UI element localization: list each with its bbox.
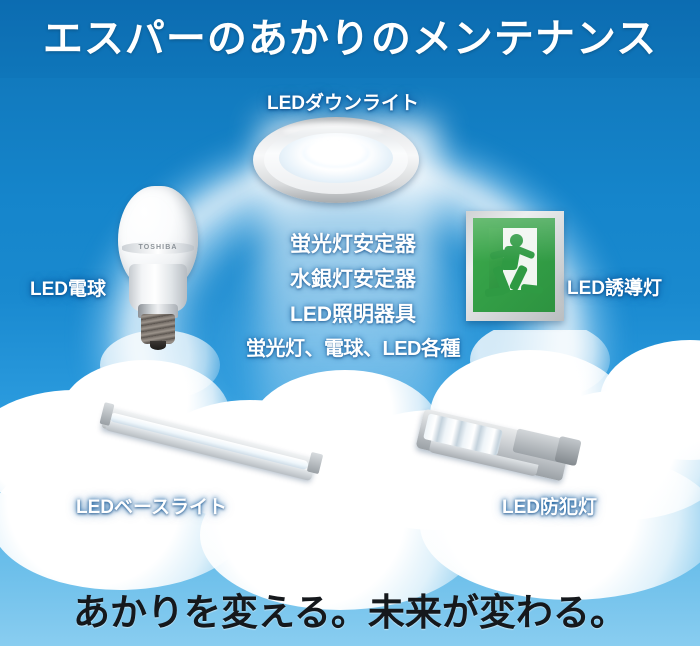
- baselight-tube: [109, 412, 309, 470]
- bulb-brand-text: TOSHIBA: [118, 244, 198, 251]
- bulb-screw-base: [141, 314, 175, 344]
- fluorescent-baselight-icon: [104, 398, 322, 464]
- label-led-baselight: LEDベースライト: [76, 492, 227, 519]
- tagline: あかりを変える。未来が変わる。: [0, 582, 700, 636]
- downlight-icon: [253, 117, 419, 203]
- security-light-mount: [554, 436, 581, 466]
- label-led-guide-light: LED誘導灯: [567, 273, 662, 300]
- emergency-exit-sign-icon: [466, 211, 564, 321]
- label-led-bulb: LED電球: [30, 274, 106, 301]
- label-led-security-light: LED防犯灯: [502, 492, 597, 519]
- light-bulb-icon: TOSHIBA: [118, 186, 198, 350]
- poster-canvas: エスパーのあかりのメンテナンス TOSHIBA: [0, 0, 700, 646]
- service-list: 蛍光灯安定器 水銀灯安定器 LED照明器具 蛍光灯、電球、LED各種: [228, 227, 478, 367]
- running-man-back-foot: [485, 287, 506, 298]
- service-item-3: LED照明器具: [228, 297, 478, 332]
- downlight-light-core: [302, 138, 370, 168]
- bulb-contact-tip: [150, 341, 166, 350]
- exit-sign-gloss: [473, 218, 555, 262]
- running-man-front-foot: [521, 284, 544, 294]
- service-item-2: 水銀灯安定器: [228, 262, 478, 297]
- service-item-4: 蛍光灯、電球、LED各種: [228, 332, 478, 367]
- security-light-icon: [420, 402, 584, 478]
- page-title: エスパーのあかりのメンテナンス: [0, 10, 700, 68]
- label-led-downlight: LEDダウンライト: [267, 88, 419, 115]
- service-item-1: 蛍光灯安定器: [228, 227, 478, 262]
- downlight-highlight: [283, 123, 383, 139]
